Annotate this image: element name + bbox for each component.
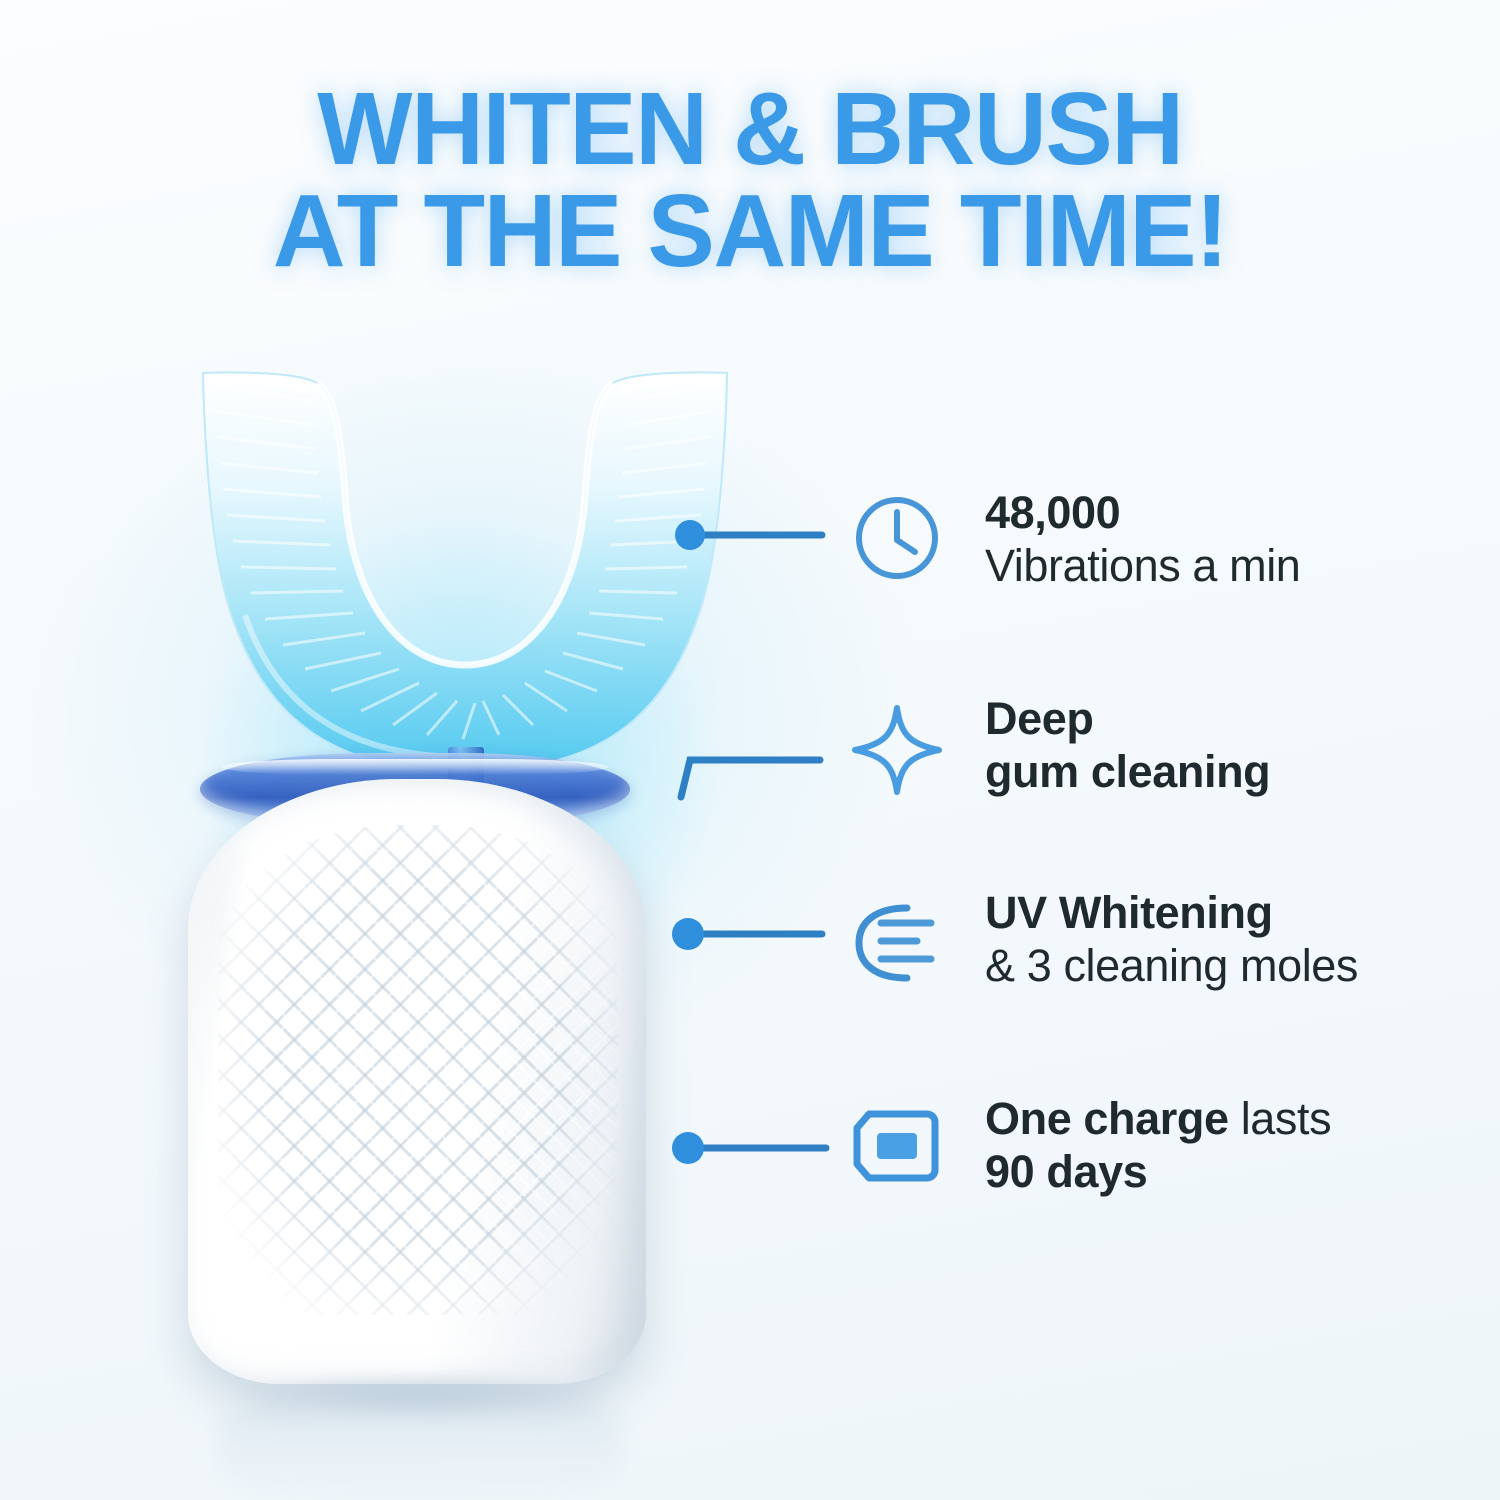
feature-battery-text: One charge lasts 90 days [985,1092,1331,1198]
feature-battery-line1-rest: lasts [1229,1093,1332,1144]
lattice-highlight [219,826,619,1316]
feature-gum-cleaning: Deep gum cleaning [845,692,1270,800]
product-image [150,355,770,1425]
feature-battery-line2: 90 days [985,1146,1147,1197]
battery-icon [845,1092,949,1186]
uv-rays-icon [845,886,949,988]
product-reflection [220,1385,620,1500]
headline-line-2: AT THE SAME TIME! [15,180,1485,282]
headline-line-1: WHITEN & BRUSH [317,71,1182,186]
device-body [188,779,646,1384]
feature-uv-line1: UV Whitening [985,887,1273,938]
collar-highlight [222,759,608,775]
mouthpiece-shell [203,372,727,771]
clock-icon [845,486,949,586]
feature-vibrations-line1: 48,000 [985,487,1120,538]
feature-gum-line2: gum cleaning [985,746,1270,797]
feature-vibrations-text: 48,000 Vibrations a min [985,486,1300,592]
feature-vibrations-line2: Vibrations a min [985,540,1300,591]
mouthpiece [185,365,745,785]
feature-vibrations: 48,000 Vibrations a min [845,486,1300,592]
feature-uv-whitening-text: UV Whitening & 3 cleaning moles [985,886,1358,992]
feature-uv-line2: & 3 cleaning moles [985,940,1358,991]
feature-gum-line1: Deep [985,693,1093,744]
page-title: WHITEN & BRUSH AT THE SAME TIME! [15,78,1485,282]
feature-battery-line1-bold: One charge [985,1093,1229,1144]
feature-uv-whitening: UV Whitening & 3 cleaning moles [845,886,1358,992]
sparkle-icon [845,692,949,800]
infographic-canvas: WHITEN & BRUSH AT THE SAME TIME! [0,0,1500,1500]
feature-battery-life: One charge lasts 90 days [845,1092,1331,1198]
feature-gum-cleaning-text: Deep gum cleaning [985,692,1270,798]
